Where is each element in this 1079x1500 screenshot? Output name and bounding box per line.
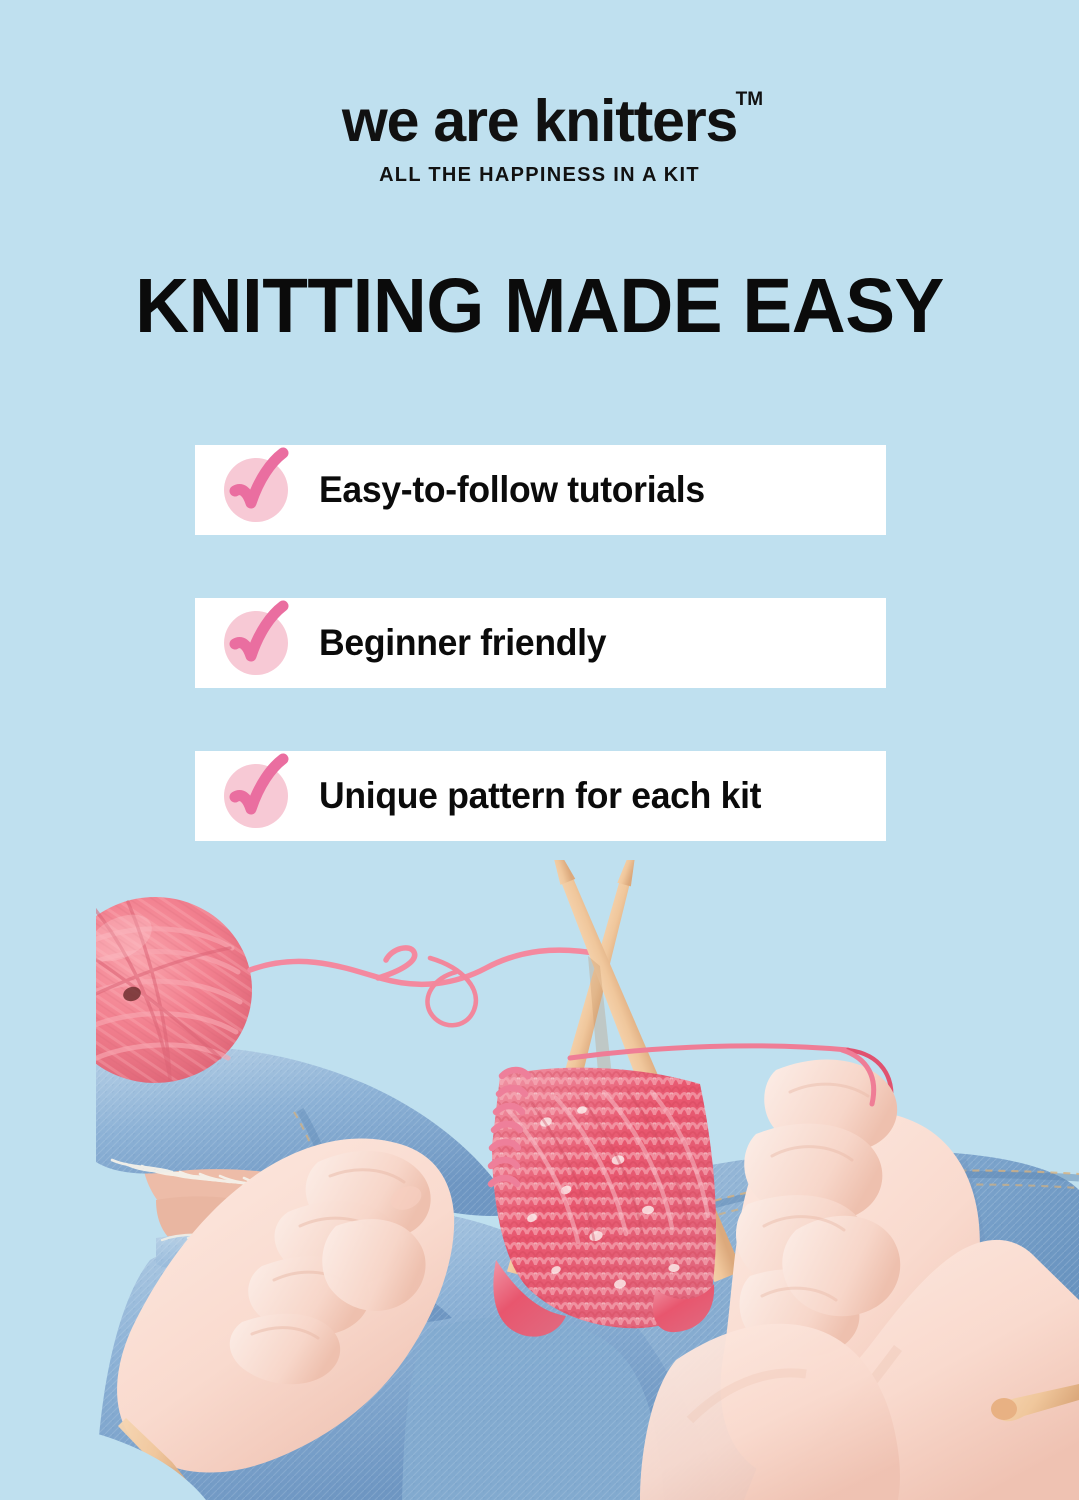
feature-card-beginner: Beginner friendly: [195, 598, 886, 688]
brand-tagline: ALL THE HAPPINESS IN A KIT: [0, 164, 1079, 187]
hero-photo: [0, 860, 1079, 1500]
hero-photo-illustration: [0, 860, 1079, 1500]
brand-logo-text: we are knitters: [342, 88, 737, 154]
brand-header: we are knittersTM ALL THE HAPPINESS IN A…: [0, 92, 1079, 187]
brand-logo: we are knittersTM: [342, 92, 737, 151]
feature-card-pattern: Unique pattern for each kit: [195, 751, 886, 841]
trademark-symbol: TM: [736, 90, 763, 109]
page-title: KNITTING MADE EASY: [16, 268, 1063, 345]
feature-card-tutorials: Easy-to-follow tutorials: [195, 445, 886, 535]
feature-label: Beginner friendly: [319, 622, 606, 664]
check-circle-icon: [221, 455, 291, 525]
feature-label: Easy-to-follow tutorials: [319, 469, 705, 511]
check-circle-icon: [221, 608, 291, 678]
poster: we are knittersTM ALL THE HAPPINESS IN A…: [0, 0, 1079, 1500]
check-circle-icon: [221, 761, 291, 831]
feature-list: Easy-to-follow tutorials Beginner friend…: [195, 445, 886, 841]
feature-label: Unique pattern for each kit: [319, 775, 761, 817]
